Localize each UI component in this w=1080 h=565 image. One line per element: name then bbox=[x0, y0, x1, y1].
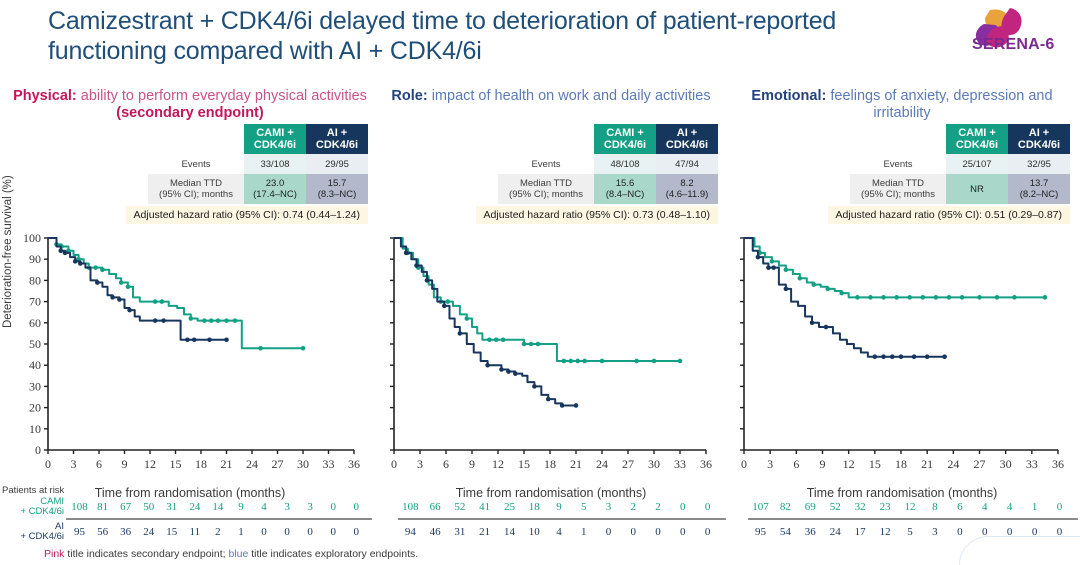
svg-text:36: 36 bbox=[348, 457, 360, 471]
group-ai-line2: CDK4/6i bbox=[666, 139, 708, 151]
median-cami-ci: (8.4–NC) bbox=[606, 189, 645, 200]
spacer-cell bbox=[148, 124, 244, 154]
risk-value: 0 bbox=[322, 501, 345, 513]
risk-values-cami: 10866524125189532200 bbox=[398, 501, 720, 513]
corner-decoration bbox=[959, 536, 1080, 565]
svg-text:21: 21 bbox=[570, 457, 582, 471]
table-row: Median TTD (95% CI); months 23.0 (17.4–N… bbox=[148, 174, 368, 204]
median-cami: 15.6 (8.4–NC) bbox=[594, 174, 656, 204]
svg-text:90: 90 bbox=[29, 252, 41, 266]
risk-table-physical: CAMI + CDK4/6i 108816750312414943300 AI … bbox=[0, 496, 372, 542]
svg-text:33: 33 bbox=[674, 457, 686, 471]
stats-table: CAMI + CDK4/6i AI + CDK4/6i Events 25/10… bbox=[850, 124, 1070, 204]
svg-text:15: 15 bbox=[869, 457, 881, 471]
logo-text: SERENA-6 bbox=[972, 36, 1055, 54]
patients-at-risk-label: Patients at risk bbox=[2, 485, 64, 496]
risk-value: 0 bbox=[253, 526, 276, 538]
svg-text:0: 0 bbox=[35, 443, 41, 457]
panel-heading-rest: feelings of anxiety, depression and irri… bbox=[826, 88, 1052, 121]
table-row: Events 25/107 32/95 bbox=[850, 154, 1070, 174]
risk-value: 95 bbox=[68, 526, 91, 538]
svg-text:60: 60 bbox=[29, 316, 41, 330]
risk-value: 46 bbox=[423, 526, 448, 538]
risk-value: 0 bbox=[276, 526, 299, 538]
risk-value: 4 bbox=[972, 501, 997, 513]
svg-text:50: 50 bbox=[29, 337, 41, 351]
group-cami-line2: CDK4/6i bbox=[956, 139, 998, 151]
risk-value: 6 bbox=[947, 501, 972, 513]
risk-value: 69 bbox=[798, 501, 823, 513]
risk-value: 31 bbox=[160, 501, 183, 513]
median-line2: (95% CI); months bbox=[159, 189, 233, 200]
group-cami-line1: CAMI + bbox=[958, 127, 996, 139]
risk-value: 15 bbox=[160, 526, 183, 538]
svg-text:6: 6 bbox=[96, 457, 102, 471]
risk-value: 0 bbox=[947, 526, 972, 538]
risk-value: 56 bbox=[91, 526, 114, 538]
svg-text:27: 27 bbox=[272, 457, 284, 471]
risk-values-cami: 108816750312414943300 bbox=[68, 501, 368, 513]
svg-text:9: 9 bbox=[122, 457, 128, 471]
panel-heading-bold: Physical: bbox=[13, 88, 77, 104]
median-ai-value: 15.7 bbox=[328, 178, 347, 189]
events-label: Events bbox=[498, 154, 594, 174]
risk-value: 4 bbox=[253, 501, 276, 513]
risk-value: 24 bbox=[183, 501, 206, 513]
group-cami-line2: CDK4/6i bbox=[254, 139, 296, 151]
stats-block: CAMI + CDK4/6i AI + CDK4/6i Events 48/10… bbox=[376, 124, 726, 232]
svg-text:15: 15 bbox=[170, 457, 182, 471]
risk-value: 0 bbox=[621, 526, 646, 538]
panel-heading-bold: Emotional: bbox=[751, 88, 826, 104]
svg-text:27: 27 bbox=[974, 457, 986, 471]
svg-text:0: 0 bbox=[391, 457, 397, 471]
svg-text:30: 30 bbox=[1000, 457, 1012, 471]
panel-heading-rest: ability to perform everyday physical act… bbox=[77, 88, 367, 104]
serena6-logo: SERENA-6 bbox=[968, 4, 1074, 56]
risk-value: 11 bbox=[183, 526, 206, 538]
footnote-blue: blue bbox=[228, 548, 248, 560]
median-label: Median TTD (95% CI); months bbox=[850, 174, 946, 204]
group-ai-line1: AI + bbox=[677, 127, 697, 139]
risk-value: 108 bbox=[68, 501, 91, 513]
risk-value: 82 bbox=[773, 501, 798, 513]
risk-value: 12 bbox=[898, 501, 923, 513]
svg-text:30: 30 bbox=[29, 379, 41, 393]
hazard-ratio-box: Adjusted hazard ratio (95% CI): 0.73 (0.… bbox=[476, 206, 718, 224]
risk-value: 41 bbox=[472, 501, 497, 513]
events-ai: 29/95 bbox=[306, 154, 368, 174]
km-plot-svg: 0102030405060708090100036912151821242730… bbox=[4, 232, 364, 480]
risk-values-ai: 9556362415112100000 bbox=[68, 526, 368, 538]
km-plot-svg: 0369121518212427303336 bbox=[376, 232, 716, 480]
risk-row-ai: AI + CDK4/6i 9556362415112100000 bbox=[0, 521, 372, 542]
svg-text:9: 9 bbox=[469, 457, 475, 471]
events-cami: 25/107 bbox=[946, 154, 1008, 174]
svg-text:18: 18 bbox=[895, 457, 907, 471]
risk-value: 25 bbox=[497, 501, 522, 513]
risk-value: 67 bbox=[114, 501, 137, 513]
group-cami-line2: CDK4/6i bbox=[604, 139, 646, 151]
risk-value: 4 bbox=[547, 526, 572, 538]
risk-value: 1 bbox=[229, 526, 252, 538]
group-header-cami: CAMI + CDK4/6i bbox=[594, 124, 656, 154]
risk-value: 2 bbox=[206, 526, 229, 538]
events-cami: 48/108 bbox=[594, 154, 656, 174]
svg-text:30: 30 bbox=[297, 457, 309, 471]
svg-text:27: 27 bbox=[622, 457, 634, 471]
group-cami-line1: CAMI + bbox=[256, 127, 294, 139]
svg-text:6: 6 bbox=[443, 457, 449, 471]
svg-text:3: 3 bbox=[71, 457, 77, 471]
median-label: Median TTD (95% CI); months bbox=[498, 174, 594, 204]
hazard-ratio-box: Adjusted hazard ratio (95% CI): 0.74 (0.… bbox=[126, 206, 368, 224]
risk-value: 95 bbox=[748, 526, 773, 538]
risk-value: 1 bbox=[1022, 501, 1047, 513]
median-ai: 15.7 (8.3–NC) bbox=[306, 174, 368, 204]
risk-value: 24 bbox=[137, 526, 160, 538]
median-ai: 8.2 (4.6–11.9) bbox=[656, 174, 718, 204]
svg-text:3: 3 bbox=[417, 457, 423, 471]
median-line1: Median TTD bbox=[872, 178, 924, 189]
panel-heading: Role: impact of health on work and daily… bbox=[376, 88, 726, 124]
risk-value: 14 bbox=[497, 526, 522, 538]
risk-ai-line2: + CDK4/6i bbox=[20, 531, 64, 542]
risk-divider bbox=[398, 518, 726, 520]
risk-value: 0 bbox=[345, 526, 368, 538]
stats-block: CAMI + CDK4/6i AI + CDK4/6i Events 33/10… bbox=[4, 124, 376, 232]
risk-value: 36 bbox=[798, 526, 823, 538]
svg-text:18: 18 bbox=[195, 457, 207, 471]
svg-text:0: 0 bbox=[741, 457, 747, 471]
group-header-ai: AI + CDK4/6i bbox=[1008, 124, 1070, 154]
svg-text:18: 18 bbox=[544, 457, 556, 471]
svg-text:100: 100 bbox=[23, 232, 41, 245]
svg-text:40: 40 bbox=[29, 358, 41, 372]
risk-value: 52 bbox=[823, 501, 848, 513]
risk-value: 0 bbox=[646, 526, 671, 538]
km-chart-role: 0369121518212427303336 Time from randomi… bbox=[376, 232, 726, 500]
risk-value: 3 bbox=[299, 501, 322, 513]
risk-value: 81 bbox=[91, 501, 114, 513]
svg-text:70: 70 bbox=[29, 295, 41, 309]
risk-row-cami: CAMI + CDK4/6i 108816750312414943300 bbox=[0, 496, 372, 517]
svg-text:21: 21 bbox=[221, 457, 233, 471]
svg-text:9: 9 bbox=[820, 457, 826, 471]
spacer-cell bbox=[498, 124, 594, 154]
median-ai-ci: (8.2–NC) bbox=[1020, 189, 1059, 200]
svg-text:20: 20 bbox=[29, 401, 41, 415]
footnote: Pink title indicates secondary endpoint;… bbox=[44, 548, 418, 560]
svg-text:80: 80 bbox=[29, 273, 41, 287]
svg-text:30: 30 bbox=[648, 457, 660, 471]
table-row: CAMI + CDK4/6i AI + CDK4/6i bbox=[148, 124, 368, 154]
svg-text:33: 33 bbox=[323, 457, 335, 471]
table-row: Median TTD (95% CI); months 15.6 (8.4–NC… bbox=[498, 174, 718, 204]
panel-heading: Physical: ability to perform everyday ph… bbox=[4, 88, 376, 124]
median-ai-ci: (4.6–11.9) bbox=[666, 189, 709, 200]
median-ai: 13.7 (8.2–NC) bbox=[1008, 174, 1070, 204]
risk-value: 10 bbox=[522, 526, 547, 538]
median-ai-value: 13.7 bbox=[1030, 178, 1049, 189]
risk-value: 0 bbox=[322, 526, 345, 538]
events-label: Events bbox=[148, 154, 244, 174]
risk-row-ai: 9446312114104100000 bbox=[376, 521, 726, 542]
risk-value: 5 bbox=[571, 501, 596, 513]
median-ai-ci: (8.3–NC) bbox=[318, 189, 357, 200]
slide-root: Camizestrant + CDK4/6i delayed time to d… bbox=[0, 0, 1080, 565]
svg-text:6: 6 bbox=[793, 457, 799, 471]
risk-value: 12 bbox=[873, 526, 898, 538]
panel-emotional: Emotional: feelings of anxiety, depressi… bbox=[726, 88, 1078, 488]
risk-value: 31 bbox=[448, 526, 473, 538]
spacer-cell bbox=[850, 124, 946, 154]
risk-value: 36 bbox=[114, 526, 137, 538]
group-ai-line1: AI + bbox=[327, 127, 347, 139]
median-cami-value: NR bbox=[970, 184, 984, 195]
risk-value: 23 bbox=[873, 501, 898, 513]
median-cami: NR bbox=[946, 174, 1008, 204]
median-line2: (95% CI); months bbox=[509, 189, 583, 200]
risk-value: 66 bbox=[423, 501, 448, 513]
median-ai-value: 8.2 bbox=[680, 178, 693, 189]
risk-value: 32 bbox=[848, 501, 873, 513]
risk-value: 9 bbox=[547, 501, 572, 513]
group-ai-line2: CDK4/6i bbox=[316, 139, 358, 151]
risk-value: 3 bbox=[276, 501, 299, 513]
risk-value: 2 bbox=[646, 501, 671, 513]
risk-value: 24 bbox=[823, 526, 848, 538]
km-plot-svg: 0369121518212427303336 bbox=[726, 232, 1068, 480]
risk-row-label-cami: CAMI + CDK4/6i bbox=[0, 497, 68, 517]
svg-text:10: 10 bbox=[29, 422, 41, 436]
svg-text:33: 33 bbox=[1026, 457, 1038, 471]
stats-block: CAMI + CDK4/6i AI + CDK4/6i Events 25/10… bbox=[726, 124, 1078, 232]
median-line1: Median TTD bbox=[170, 178, 222, 189]
risk-value: 50 bbox=[137, 501, 160, 513]
table-row: CAMI + CDK4/6i AI + CDK4/6i bbox=[498, 124, 718, 154]
risk-row-cami: 107826952322312864410 bbox=[726, 496, 1078, 517]
risk-value: 0 bbox=[596, 526, 621, 538]
risk-value: 0 bbox=[1047, 501, 1072, 513]
risk-value: 21 bbox=[472, 526, 497, 538]
events-label: Events bbox=[850, 154, 946, 174]
stats-table: CAMI + CDK4/6i AI + CDK4/6i Events 33/10… bbox=[148, 124, 368, 204]
risk-value: 0 bbox=[670, 501, 695, 513]
page-title: Camizestrant + CDK4/6i delayed time to d… bbox=[48, 6, 948, 66]
table-row: CAMI + CDK4/6i AI + CDK4/6i bbox=[850, 124, 1070, 154]
median-cami-ci: (17.4–NC) bbox=[253, 189, 297, 200]
panel-heading-bold2: (secondary endpoint) bbox=[116, 105, 263, 121]
events-ai: 47/94 bbox=[656, 154, 718, 174]
risk-value: 0 bbox=[299, 526, 322, 538]
panel-heading-rest: impact of health on work and daily activ… bbox=[428, 88, 711, 104]
risk-value: 52 bbox=[448, 501, 473, 513]
svg-text:12: 12 bbox=[843, 457, 855, 471]
table-row: Events 48/108 47/94 bbox=[498, 154, 718, 174]
events-cami: 33/108 bbox=[244, 154, 306, 174]
risk-value: 4 bbox=[997, 501, 1022, 513]
y-axis-label: Deterioration-free survival (%) bbox=[2, 175, 14, 328]
risk-value: 9 bbox=[229, 501, 252, 513]
risk-table-role: 10866524125189532200 9446312114104100000 bbox=[376, 496, 726, 542]
risk-value: 107 bbox=[748, 501, 773, 513]
km-chart-emotional: 0369121518212427303336 Time from randomi… bbox=[726, 232, 1078, 500]
risk-divider bbox=[748, 518, 1078, 520]
risk-value: 14 bbox=[206, 501, 229, 513]
risk-value: 1 bbox=[571, 526, 596, 538]
table-row: Events 33/108 29/95 bbox=[148, 154, 368, 174]
group-ai-line1: AI + bbox=[1029, 127, 1049, 139]
svg-text:24: 24 bbox=[947, 457, 959, 471]
risk-value: 0 bbox=[695, 501, 720, 513]
hazard-ratio-box: Adjusted hazard ratio (95% CI): 0.51 (0.… bbox=[828, 206, 1070, 224]
svg-text:36: 36 bbox=[700, 457, 712, 471]
group-header-cami: CAMI + CDK4/6i bbox=[244, 124, 306, 154]
panel-physical: Physical: ability to perform everyday ph… bbox=[4, 88, 376, 488]
risk-values-ai: 9446312114104100000 bbox=[398, 526, 720, 538]
group-header-ai: AI + CDK4/6i bbox=[656, 124, 718, 154]
risk-row-label-ai: AI + CDK4/6i bbox=[0, 522, 68, 542]
svg-text:36: 36 bbox=[1052, 457, 1064, 471]
median-cami-value: 23.0 bbox=[266, 178, 285, 189]
svg-text:3: 3 bbox=[767, 457, 773, 471]
panel-role: Role: impact of health on work and daily… bbox=[376, 88, 726, 488]
risk-row-cami: 10866524125189532200 bbox=[376, 496, 726, 517]
svg-text:12: 12 bbox=[144, 457, 156, 471]
svg-text:15: 15 bbox=[518, 457, 530, 471]
svg-text:24: 24 bbox=[596, 457, 608, 471]
risk-value: 17 bbox=[848, 526, 873, 538]
svg-text:24: 24 bbox=[246, 457, 258, 471]
stats-table: CAMI + CDK4/6i AI + CDK4/6i Events 48/10… bbox=[498, 124, 718, 204]
svg-text:21: 21 bbox=[921, 457, 933, 471]
group-header-cami: CAMI + CDK4/6i bbox=[946, 124, 1008, 154]
risk-value: 0 bbox=[345, 501, 368, 513]
risk-divider bbox=[66, 518, 372, 520]
risk-value: 18 bbox=[522, 501, 547, 513]
median-cami-value: 15.6 bbox=[616, 178, 635, 189]
table-row: Median TTD (95% CI); months NR 13.7 (8.2… bbox=[850, 174, 1070, 204]
risk-value: 3 bbox=[596, 501, 621, 513]
footnote-end: title indicates exploratory endpoints. bbox=[248, 548, 418, 560]
risk-value: 0 bbox=[695, 526, 720, 538]
panel-heading-bold: Role: bbox=[391, 88, 427, 104]
risk-value: 108 bbox=[398, 501, 423, 513]
risk-values-cami: 107826952322312864410 bbox=[748, 501, 1072, 513]
risk-value: 94 bbox=[398, 526, 423, 538]
km-chart-physical: Deterioration-free survival (%) 01020304… bbox=[4, 232, 376, 500]
median-cami: 23.0 (17.4–NC) bbox=[244, 174, 306, 204]
footnote-pink: Pink bbox=[44, 548, 64, 560]
risk-value: 3 bbox=[922, 526, 947, 538]
svg-text:0: 0 bbox=[45, 457, 51, 471]
footnote-mid: title indicates secondary endpoint; bbox=[64, 548, 228, 560]
median-label: Median TTD (95% CI); months bbox=[148, 174, 244, 204]
risk-value: 2 bbox=[621, 501, 646, 513]
svg-text:12: 12 bbox=[492, 457, 504, 471]
median-line1: Median TTD bbox=[520, 178, 572, 189]
group-ai-line2: CDK4/6i bbox=[1018, 139, 1060, 151]
risk-value: 8 bbox=[922, 501, 947, 513]
risk-value: 0 bbox=[670, 526, 695, 538]
group-header-ai: AI + CDK4/6i bbox=[306, 124, 368, 154]
risk-value: 5 bbox=[898, 526, 923, 538]
panel-heading: Emotional: feelings of anxiety, depressi… bbox=[726, 88, 1078, 124]
events-ai: 32/95 bbox=[1008, 154, 1070, 174]
group-cami-line1: CAMI + bbox=[606, 127, 644, 139]
risk-cami-line2: + CDK4/6i bbox=[20, 506, 64, 517]
risk-value: 54 bbox=[773, 526, 798, 538]
median-line2: (95% CI); months bbox=[861, 189, 935, 200]
